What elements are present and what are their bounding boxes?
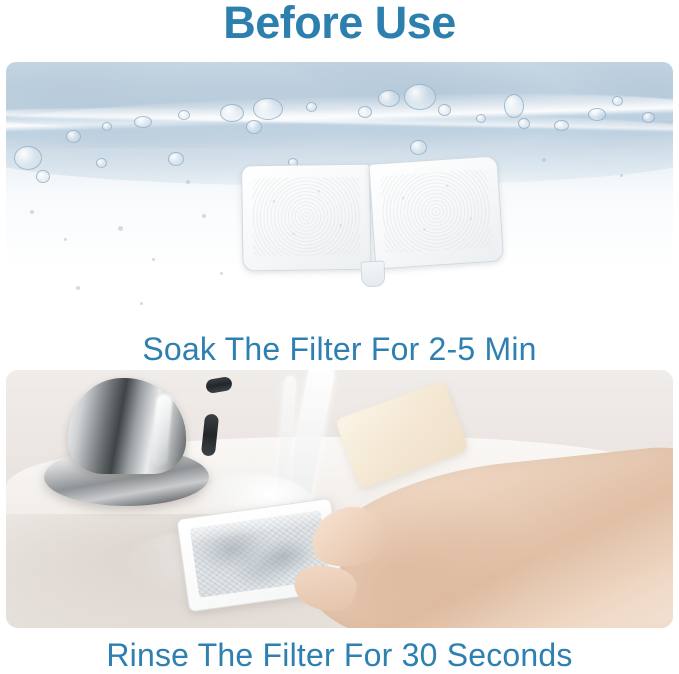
micro-bubble: [202, 214, 206, 218]
bubble: [253, 98, 283, 120]
bubble: [612, 96, 623, 106]
bubble: [96, 158, 107, 168]
micro-bubble: [152, 258, 155, 261]
micro-bubble: [220, 272, 223, 275]
bubble: [476, 114, 486, 123]
filter-pad-left: [241, 164, 371, 272]
bubble: [378, 90, 400, 107]
filter-pads: [240, 157, 504, 285]
micro-bubble: [620, 174, 623, 177]
soak-image-panel: [6, 62, 673, 322]
bubble: [554, 120, 569, 131]
bubble: [504, 94, 524, 118]
bubble: [642, 112, 655, 123]
micro-bubble: [64, 238, 67, 241]
bubble: [588, 108, 606, 121]
micro-bubble: [30, 210, 34, 214]
micro-bubble: [542, 158, 546, 162]
filter-pad-texture: [252, 177, 360, 256]
bubble: [36, 170, 50, 183]
bubble: [438, 104, 451, 116]
bubble: [246, 120, 262, 134]
filter-pad-right: [368, 155, 504, 269]
bubble: [220, 104, 244, 122]
bubble: [178, 110, 190, 120]
micro-bubble: [118, 226, 123, 231]
bubble: [404, 84, 436, 110]
bubble: [168, 152, 184, 166]
rinse-caption: Rinse The Filter For 30 Seconds: [0, 637, 679, 674]
rinse-image-panel: [6, 370, 673, 628]
bubble: [306, 102, 317, 112]
filter-pad-tab: [361, 261, 386, 288]
page-title: Before Use: [0, 0, 679, 48]
micro-bubble: [140, 302, 143, 305]
soak-caption: Soak The Filter For 2-5 Min: [0, 331, 679, 368]
filter-pad-texture: [380, 169, 492, 254]
bubble: [410, 140, 427, 155]
bubble: [518, 118, 530, 129]
faucet-highlight: [151, 393, 173, 466]
bubble: [66, 130, 81, 143]
instruction-card: Before Use: [0, 0, 679, 674]
micro-bubble: [76, 286, 80, 290]
bubble: [14, 146, 42, 170]
micro-bubble: [186, 180, 190, 184]
bubble: [358, 106, 372, 118]
bubble: [102, 122, 112, 131]
bubble: [134, 116, 152, 128]
